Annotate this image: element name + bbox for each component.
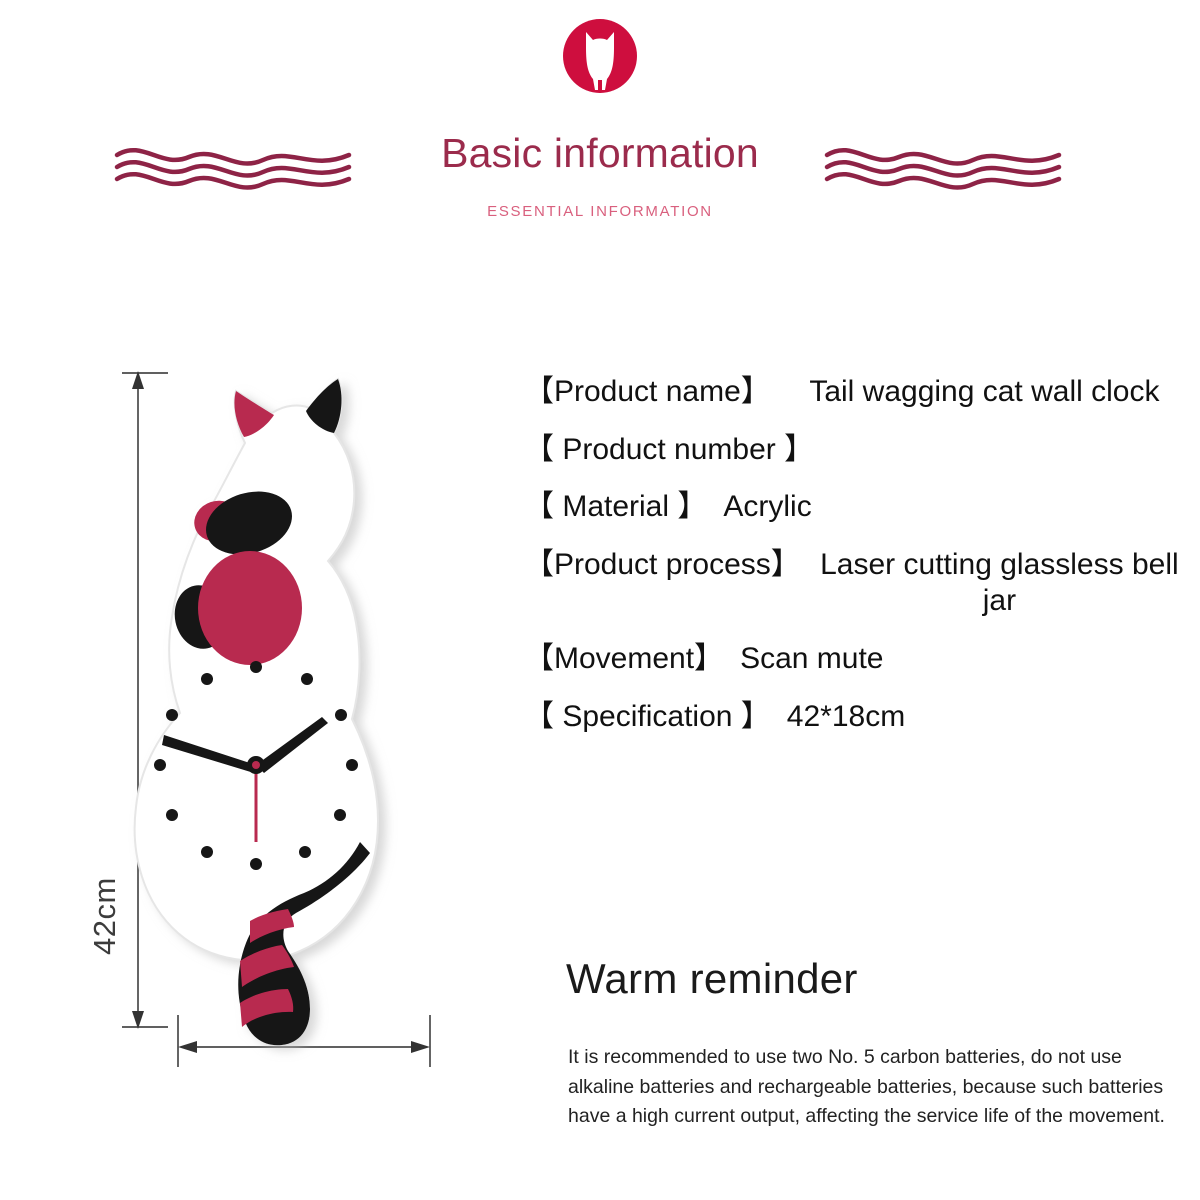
spec-row-material: 【 Material 】 Acrylic [524, 489, 1184, 526]
wavy-lines-decoration-left-icon [113, 143, 353, 196]
product-image-with-dimensions: 42cm 18cm [60, 355, 500, 1145]
spec-key: 【Movement】 [524, 641, 724, 678]
dimension-height-label: 42cm [87, 877, 123, 955]
spec-row-product-name: 【Product name】 Tail wagging cat wall clo… [524, 374, 1184, 411]
warm-reminder-body: It is recommended to use two No. 5 carbo… [568, 1043, 1184, 1132]
spec-value: Scan mute [740, 641, 1184, 678]
spec-key: 【 Product number 】 [524, 432, 814, 469]
spec-value: Tail wagging cat wall clock [785, 374, 1184, 411]
spec-value: 42*18cm [787, 699, 1184, 736]
spec-row-specification: 【 Specification 】 42*18cm [524, 699, 1184, 736]
spec-key: 【Product name】 [524, 374, 771, 411]
spec-key: 【 Material 】 [524, 489, 707, 526]
page-subtitle: ESSENTIAL INFORMATION [0, 203, 1200, 220]
spec-value: Acrylic [723, 489, 1184, 526]
spec-row-movement: 【Movement】 Scan mute [524, 641, 1184, 678]
spec-value: Laser cutting glassless bell jar [815, 547, 1184, 620]
spec-row-product-process: 【Product process】 Laser cutting glassles… [524, 547, 1184, 620]
wavy-lines-decoration-right-icon [823, 143, 1063, 196]
spec-key: 【 Specification 】 [524, 699, 771, 736]
header: Basic information ESSENTIAL INFORMATION [0, 0, 1200, 250]
warm-reminder-title: Warm reminder [566, 955, 858, 1003]
cat-clock-body [135, 379, 378, 1045]
spec-key: 【Product process】 [524, 547, 801, 584]
spec-row-product-number: 【 Product number 】 [524, 432, 1184, 469]
specification-list: 【Product name】 Tail wagging cat wall clo… [524, 374, 1184, 756]
infographic-page: Basic information ESSENTIAL INFORMATION [0, 0, 1200, 1200]
cat-in-circle-logo-icon [562, 18, 638, 94]
